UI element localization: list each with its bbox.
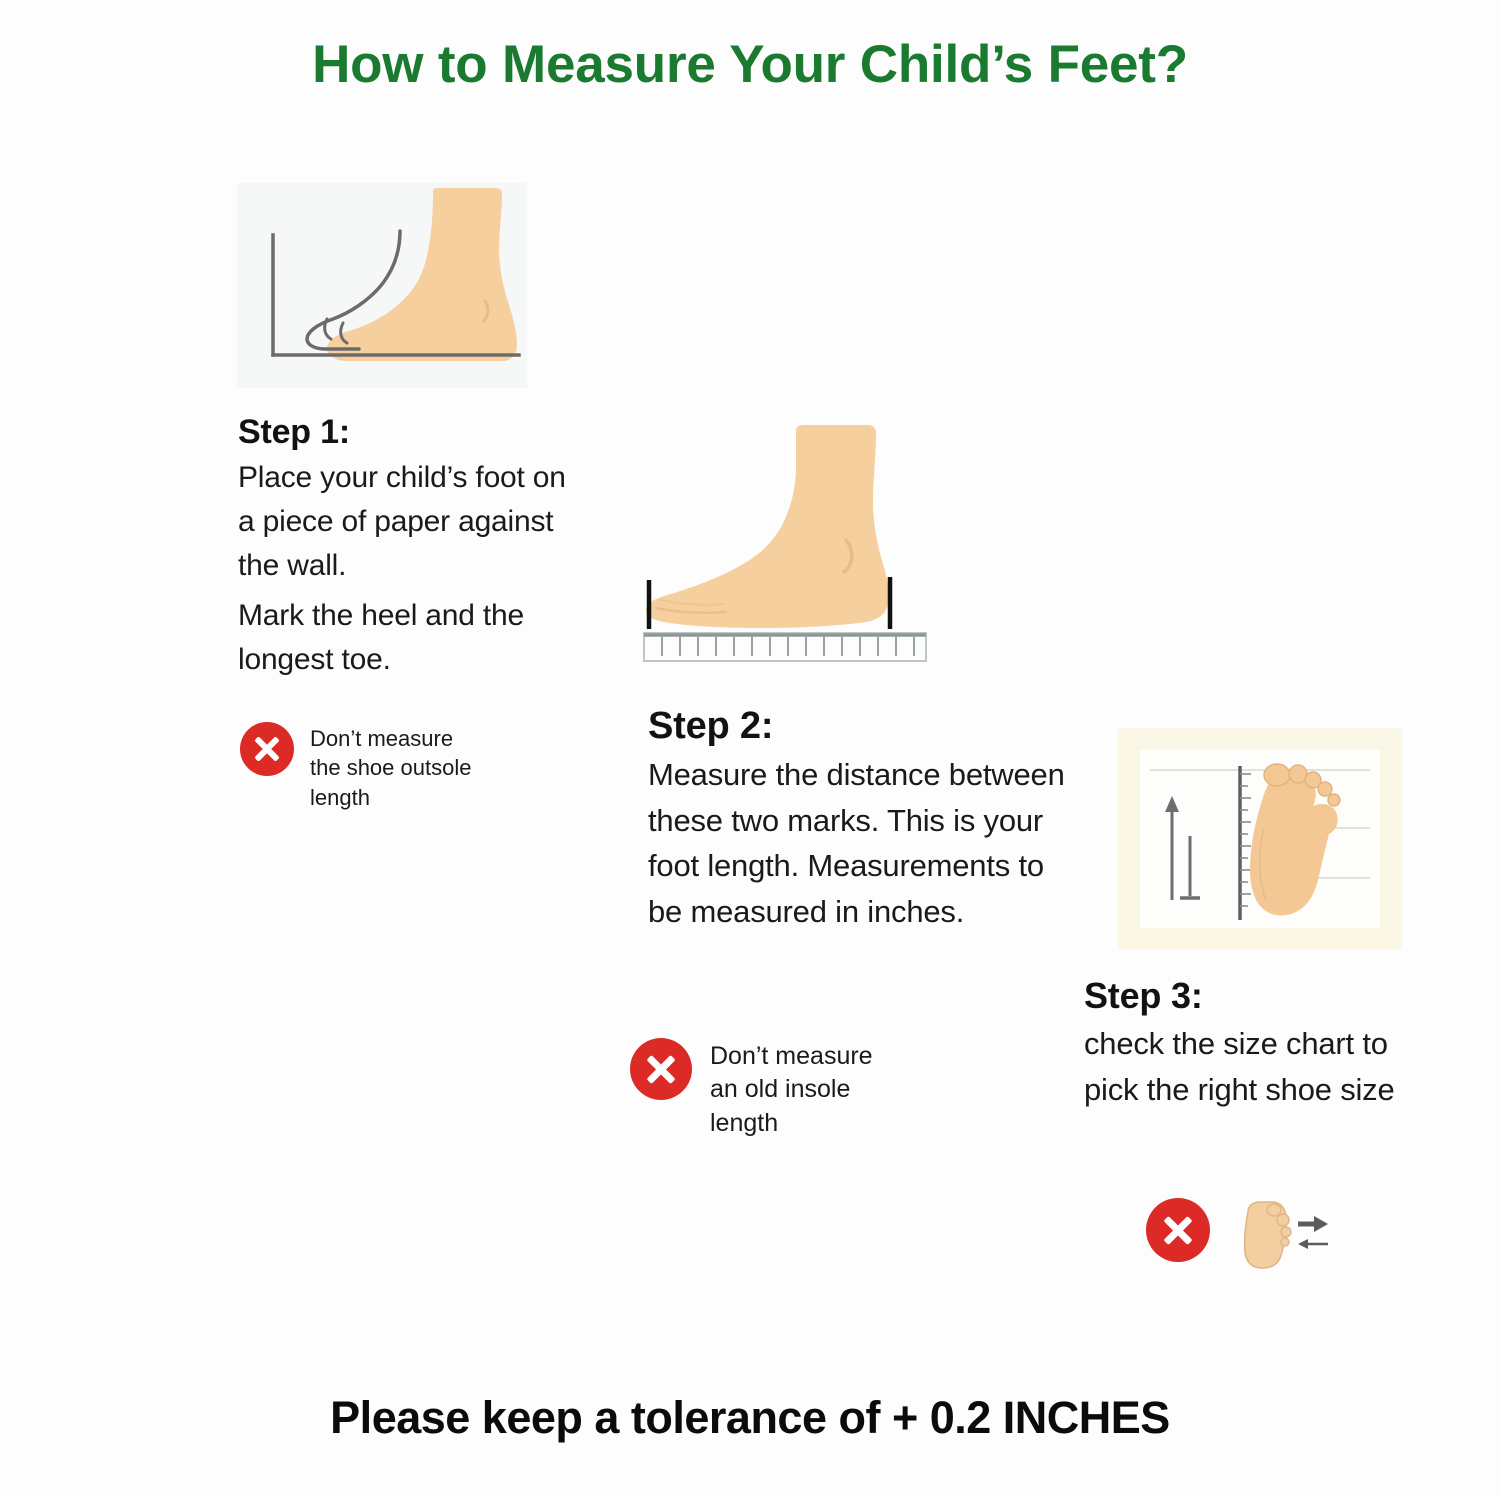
step-3-paragraph-1: check the size chart to pick the right s… <box>1084 1021 1424 1112</box>
step-2-warning-line-3: length <box>710 1107 873 1140</box>
tolerance-note: Please keep a tolerance of + 0.2 INCHES <box>0 1392 1500 1444</box>
step-1-warning-line-1: Don’t measure <box>310 724 471 753</box>
red-x-circle-icon <box>240 722 294 776</box>
step-3-warning-icons <box>1228 1198 1332 1270</box>
step-3-body: check the size chart to pick the right s… <box>1084 1021 1424 1112</box>
step-2-warning-line-1: Don’t measure <box>710 1040 873 1073</box>
step-1-warning: Don’t measure the shoe outsole length <box>240 722 560 812</box>
foot-sole-with-measure-scale-icon <box>1118 728 1402 950</box>
step-2-body: Measure the distance between these two m… <box>648 752 1078 934</box>
step-3-heading: Step 3: <box>1084 975 1424 1017</box>
step-1-warning-line-3: length <box>310 783 471 812</box>
step-1-body: Place your child’s foot on a piece of pa… <box>238 456 568 682</box>
step-2-warning-text: Don’t measure an old insole length <box>710 1040 873 1140</box>
step-1-paragraph-2: Mark the heel and the longest toe. <box>238 594 568 682</box>
step-3-warning <box>1146 1198 1332 1270</box>
foot-sole-width-arrows-icon <box>1228 1198 1332 1270</box>
step-2-paragraph-1: Measure the distance between these two m… <box>648 752 1078 934</box>
step-2-warning-line-2: an old insole <box>710 1073 873 1106</box>
step-3-illustration-panel <box>1118 728 1402 950</box>
step-1-heading: Step 1: <box>238 413 568 452</box>
infographic-page: How to Measure Your Child’s Feet? Step 1… <box>0 0 1500 1496</box>
step-2-heading: Step 2: <box>648 705 1078 748</box>
page-title: How to Measure Your Child’s Feet? <box>0 34 1500 95</box>
step-1-warning-text: Don’t measure the shoe outsole length <box>310 724 471 812</box>
step-1-warning-line-2: the shoe outsole <box>310 753 471 782</box>
step-2-text-block: Step 2: Measure the distance between the… <box>648 705 1078 934</box>
step-2-illustration <box>640 422 940 667</box>
step-1-illustration-panel <box>237 183 527 388</box>
red-x-circle-icon <box>1146 1198 1210 1262</box>
step-2-warning: Don’t measure an old insole length <box>630 1038 990 1140</box>
step-3-text-block: Step 3: check the size chart to pick the… <box>1084 975 1424 1112</box>
foot-side-profile-with-ruler-icon <box>640 422 940 667</box>
step-1-paragraph-1: Place your child’s foot on a piece of pa… <box>238 456 568 588</box>
foot-side-profile-against-wall-icon <box>237 183 527 388</box>
red-x-circle-icon <box>630 1038 692 1100</box>
step-1-text-block: Step 1: Place your child’s foot on a pie… <box>238 413 568 682</box>
